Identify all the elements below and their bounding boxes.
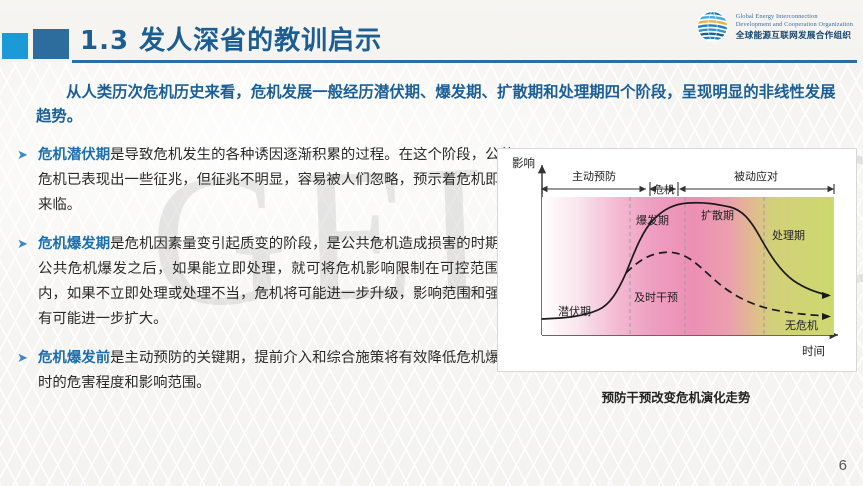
bracket-label-crisis: 危机 bbox=[654, 183, 675, 196]
chart-caption: 预防干预改变危机演化走势 bbox=[497, 388, 855, 406]
bracket-label-reactive: 被动应对 bbox=[734, 169, 778, 183]
slide: GEIDCO 1.3 发人深省的教训启示 bbox=[0, 0, 863, 486]
bullet-text: 是导致危机发生的各种诱因逐渐积累的过程。在这个阶段，公共危机已表现出一些征兆，但… bbox=[38, 147, 514, 213]
logo-en-line1: Global Energy Interconnection bbox=[736, 13, 853, 21]
bullet-text: 是主动预防的关键期，提前介入和综合施策将有效降低危机爆发时的危害程度和影响范围。 bbox=[38, 350, 514, 391]
phase-label-latency: 潜伏期 bbox=[558, 304, 591, 318]
page-title: 1.3 发人深省的教训启示 bbox=[80, 20, 382, 57]
bullet-keyword: 危机爆发期 bbox=[38, 236, 110, 252]
organization-logo: Global Energy Interconnection Developmen… bbox=[696, 10, 853, 43]
arrow-bullet-icon: ➤ bbox=[17, 145, 28, 167]
slide-header: 1.3 发人深省的教训启示 bbox=[0, 0, 863, 68]
phase-label-timely-intervention: 及时干预 bbox=[634, 291, 678, 304]
phase-label-outbreak: 爆发期 bbox=[636, 213, 669, 227]
chart-canvas: 影响 时间 主动预防 危机 被动应对 bbox=[498, 149, 854, 369]
y-axis-label: 影响 bbox=[512, 156, 535, 170]
logo-text-block: Global Energy Interconnection Developmen… bbox=[736, 13, 853, 40]
globe-icon bbox=[696, 10, 729, 43]
crisis-evolution-chart: 影响 时间 主动预防 危机 被动应对 bbox=[497, 148, 857, 372]
logo-en-line2: Development and Cooperation Organization bbox=[736, 21, 853, 29]
phase-label-handling: 处理期 bbox=[772, 229, 805, 242]
bullet-text: 是危机因素量变引起质变的阶段，是公共危机造成损害的时期，公共危机爆发之后，如果能… bbox=[38, 236, 514, 326]
accent-square-dark bbox=[33, 29, 69, 59]
lead-paragraph: 从人类历次危机历史来看，危机发展一般经历潜伏期、爆发期、扩散期和处理期四个阶段，… bbox=[36, 80, 836, 129]
list-item: ➤危机潜伏期是导致危机发生的各种诱因逐渐积累的过程。在这个阶段，公共危机已表现出… bbox=[14, 143, 514, 217]
arrow-bullet-icon: ➤ bbox=[17, 234, 28, 256]
accent-square-light bbox=[2, 33, 28, 59]
bullet-keyword: 危机爆发前 bbox=[38, 350, 110, 366]
phase-label-spread: 扩散期 bbox=[701, 208, 734, 222]
logo-cn-line: 全球能源互联网发展合作组织 bbox=[736, 30, 853, 40]
phase-brackets bbox=[542, 182, 834, 196]
list-item: ➤危机爆发期是危机因素量变引起质变的阶段，是公共危机造成损害的时期，公共危机爆发… bbox=[14, 232, 514, 331]
list-item: ➤危机爆发前是主动预防的关键期，提前介入和综合施策将有效降低危机爆发时的危害程度… bbox=[14, 346, 514, 396]
x-axis-label: 时间 bbox=[802, 344, 825, 358]
page-number: 6 bbox=[839, 457, 847, 474]
title-underline bbox=[72, 60, 857, 63]
bullet-keyword: 危机潜伏期 bbox=[38, 147, 110, 163]
bullet-list: ➤危机潜伏期是导致危机发生的各种诱因逐渐积累的过程。在这个阶段，公共危机已表现出… bbox=[14, 143, 514, 411]
phase-label-no-crisis: 无危机 bbox=[785, 318, 818, 332]
bracket-label-proactive: 主动预防 bbox=[572, 169, 616, 183]
arrow-bullet-icon: ➤ bbox=[17, 348, 28, 370]
